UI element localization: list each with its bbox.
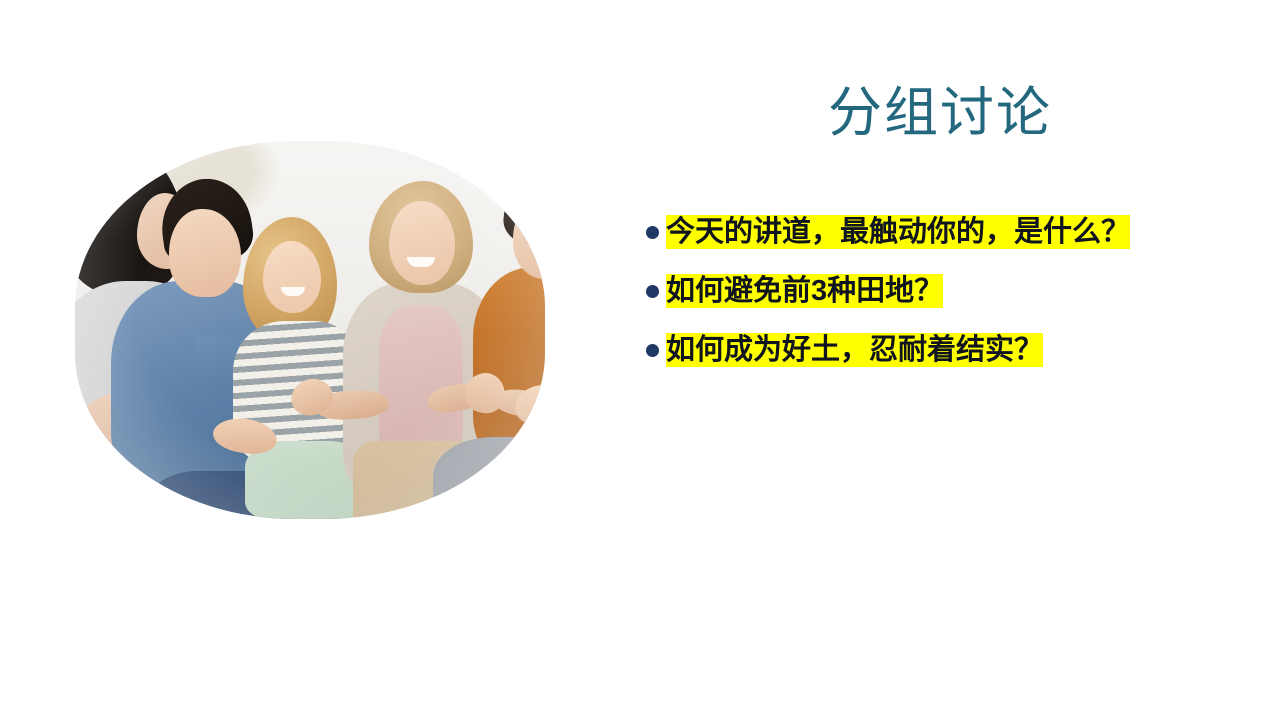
list-item-text: 今天的讲道，最触动你的，是什么？ — [666, 212, 1130, 253]
person-2-face — [169, 209, 241, 297]
list-item: 今天的讲道，最触动你的，是什么？ — [646, 212, 1206, 253]
bullet-dot-icon — [646, 226, 659, 239]
bullet-dot-icon — [646, 285, 659, 298]
person-4-face — [389, 201, 455, 285]
photo-content — [75, 141, 545, 519]
person-5-body — [473, 267, 545, 463]
list-item-text: 如何成为好土，忍耐着结实？ — [666, 330, 1043, 371]
discussion-questions-list: 今天的讲道，最触动你的，是什么？ 如何避免前3种田地？ 如何成为好土，忍耐着结实… — [646, 212, 1206, 372]
person-3-face — [263, 241, 321, 313]
list-item-text: 如何避免前3种田地？ — [666, 271, 943, 312]
bullet-dot-icon — [646, 344, 659, 357]
person-5-jeans — [433, 437, 545, 519]
highlighted-text: 如何成为好土，忍耐着结实？ — [666, 333, 1043, 367]
page-title: 分组讨论 — [640, 82, 1240, 144]
group-discussion-photo — [75, 141, 545, 519]
highlighted-text: 今天的讲道，最触动你的，是什么？ — [666, 215, 1130, 249]
list-item: 如何避免前3种田地？ — [646, 271, 1206, 312]
slide: 分组讨论 — [0, 0, 1280, 720]
list-item: 如何成为好土，忍耐着结实？ — [646, 330, 1206, 371]
highlighted-text: 如何避免前3种田地？ — [666, 274, 943, 308]
